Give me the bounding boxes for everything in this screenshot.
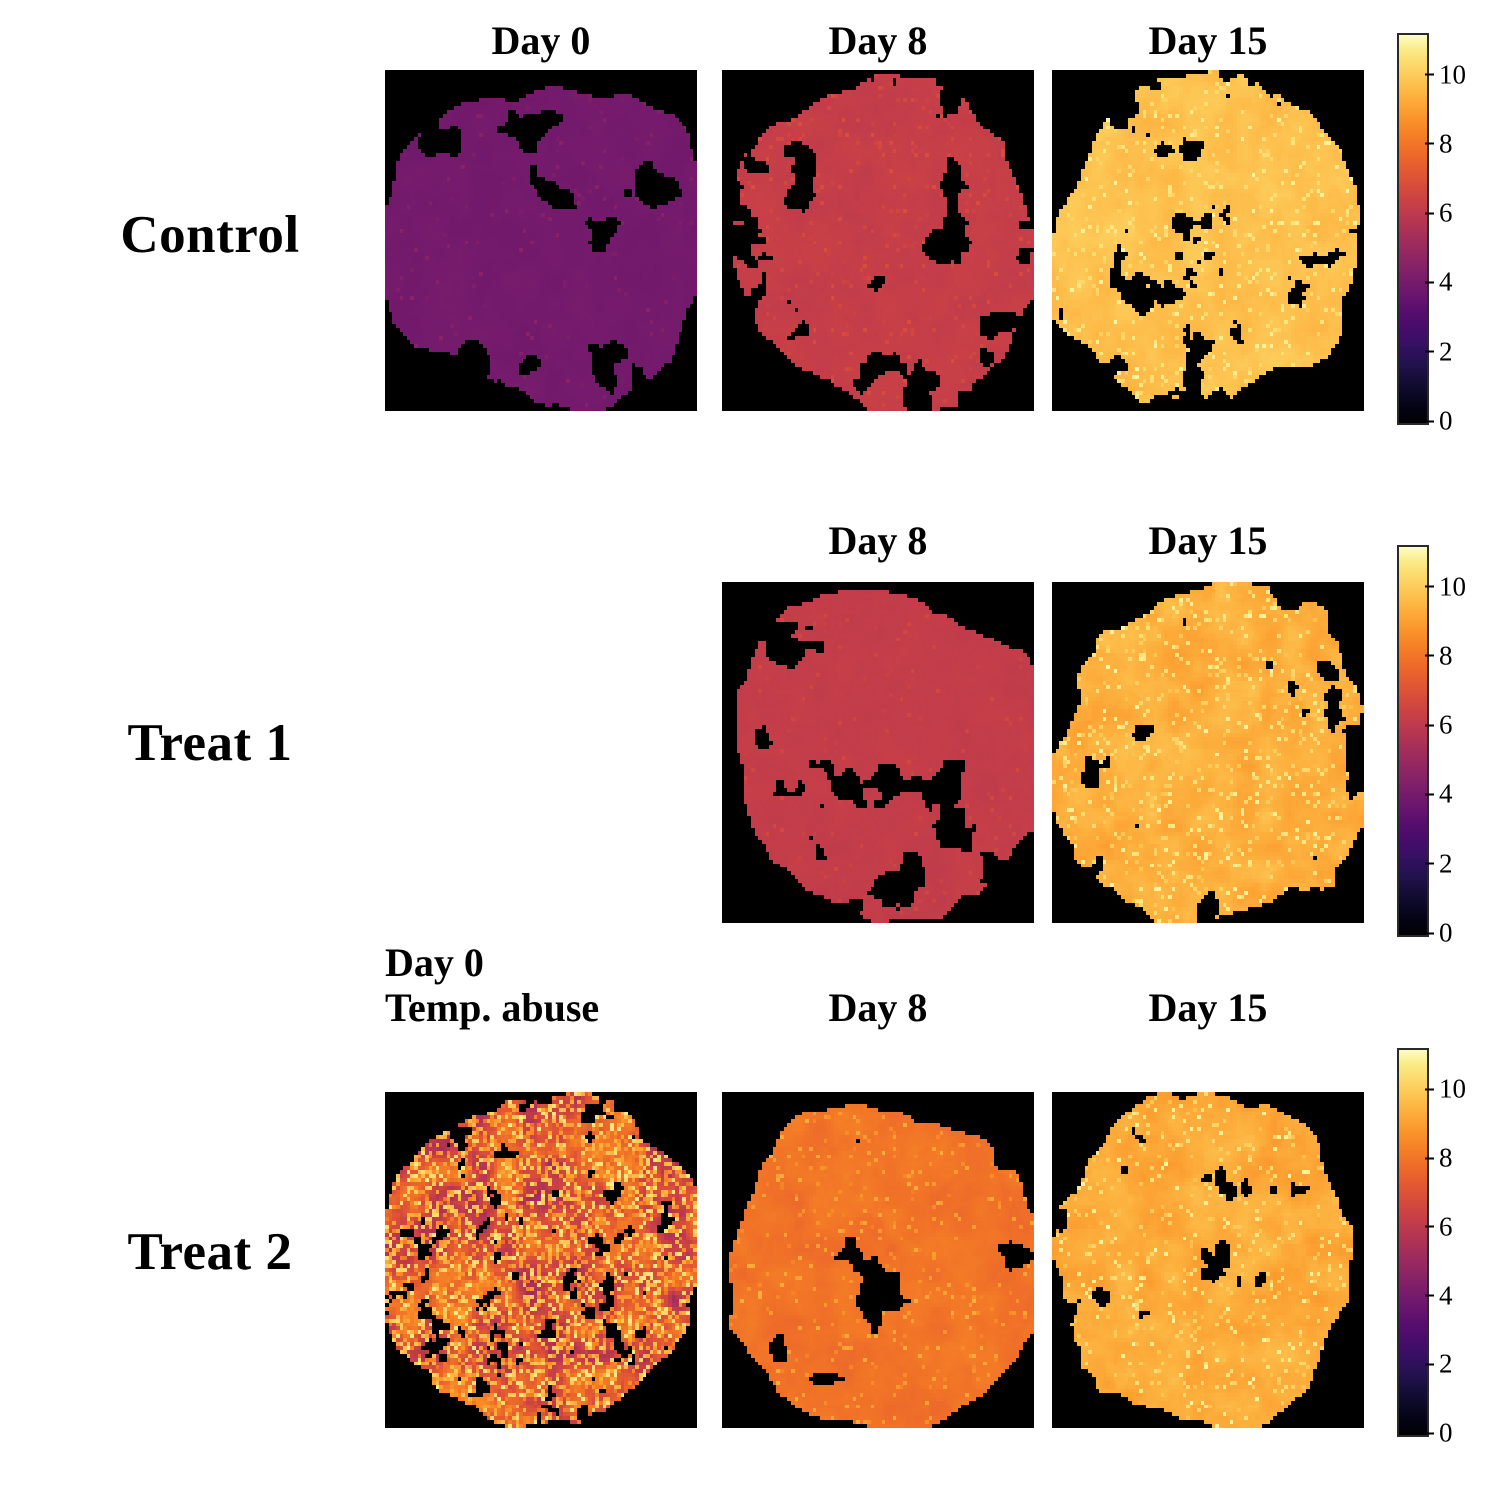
colorbar-tick: 0	[1425, 918, 1453, 949]
heatmap-image	[1052, 582, 1364, 923]
row-label-treat-2: Treat 2	[60, 1222, 360, 1282]
colorbar-tick: 4	[1425, 1280, 1453, 1311]
colorbar-tick: 4	[1425, 267, 1453, 298]
panel-title-control-day-0: Day 0	[385, 18, 697, 63]
heatmap-panel-treat-2-day-15	[1052, 1092, 1364, 1428]
tick-label: 4	[1439, 1280, 1453, 1311]
tick-label: 10	[1439, 59, 1466, 90]
colorbar-tick: 6	[1425, 710, 1453, 741]
tick-mark	[1425, 420, 1434, 422]
tick-label: 0	[1439, 406, 1453, 437]
colorbar-tick: 10	[1425, 1074, 1466, 1105]
heatmap-panel-treat-1-day-8	[722, 582, 1034, 923]
tick-mark	[1425, 1363, 1434, 1365]
tick-mark	[1425, 655, 1434, 657]
heatmap-panel-control-day-0	[385, 70, 697, 411]
tick-mark	[1425, 863, 1434, 865]
tick-label: 2	[1439, 1349, 1453, 1380]
row-label-control: Control	[60, 205, 360, 265]
heatmap-image	[385, 70, 697, 411]
tick-label: 6	[1439, 1211, 1453, 1242]
colorbar-tick: 8	[1425, 640, 1453, 671]
panel-title-treat-1-day-8: Day 8	[722, 518, 1034, 563]
colorbar-tick: 8	[1425, 128, 1453, 159]
panel-title-control-day-8: Day 8	[722, 18, 1034, 63]
heatmap-panel-control-day-8	[722, 70, 1034, 411]
colorbar-tick: 0	[1425, 406, 1453, 437]
tick-label: 8	[1439, 1143, 1453, 1174]
tick-mark	[1425, 1157, 1434, 1159]
colorbar-ticks: 0246810	[1425, 33, 1495, 421]
colorbar-tick: 0	[1425, 1418, 1453, 1449]
colorbar-treat-2: 0246810	[1397, 1048, 1425, 1433]
heatmap-image	[722, 582, 1034, 923]
panel-title-treat-2-day-8: Day 8	[722, 985, 1034, 1030]
tick-mark	[1425, 1226, 1434, 1228]
heatmap-panel-treat-1-day-15	[1052, 582, 1364, 923]
tick-label: 10	[1439, 571, 1466, 602]
colorbar-tick: 4	[1425, 779, 1453, 810]
tick-mark	[1425, 932, 1434, 934]
row-label-treat-1: Treat 1	[60, 713, 360, 773]
tick-mark	[1425, 74, 1434, 76]
tick-mark	[1425, 724, 1434, 726]
tick-label: 6	[1439, 198, 1453, 229]
tick-mark	[1425, 586, 1434, 588]
tick-label: 6	[1439, 710, 1453, 741]
heatmap-image	[1052, 1092, 1364, 1428]
tick-label: 0	[1439, 918, 1453, 949]
heatmap-panel-treat-2-day-8	[722, 1092, 1034, 1428]
colorbar-control: 0246810	[1397, 33, 1425, 421]
heatmap-figure: ControlDay 0Day 8Day 150246810Treat 1Day…	[0, 0, 1497, 1502]
tick-mark	[1425, 1432, 1434, 1434]
heatmap-image	[722, 70, 1034, 411]
tick-label: 2	[1439, 848, 1453, 879]
tick-label: 8	[1439, 640, 1453, 671]
tick-mark	[1425, 1088, 1434, 1090]
colorbar-tick: 10	[1425, 571, 1466, 602]
panel-title-control-day-15: Day 15	[1052, 18, 1364, 63]
tick-label: 2	[1439, 336, 1453, 367]
heatmap-image	[722, 1092, 1034, 1428]
tick-mark	[1425, 143, 1434, 145]
tick-label: 4	[1439, 779, 1453, 810]
colorbar-tick: 2	[1425, 848, 1453, 879]
panel-title-treat-2-day-0: Day 0 Temp. abuse	[385, 940, 697, 1030]
tick-label: 8	[1439, 128, 1453, 159]
colorbar-tick: 6	[1425, 1211, 1453, 1242]
tick-label: 0	[1439, 1418, 1453, 1449]
heatmap-panel-control-day-15	[1052, 70, 1364, 411]
colorbar-tick: 2	[1425, 1349, 1453, 1380]
tick-mark	[1425, 281, 1434, 283]
colorbar-tick: 10	[1425, 59, 1466, 90]
colorbar-tick: 2	[1425, 336, 1453, 367]
tick-mark	[1425, 212, 1434, 214]
tick-label: 10	[1439, 1074, 1466, 1105]
tick-mark	[1425, 793, 1434, 795]
colorbar-tick: 8	[1425, 1143, 1453, 1174]
colorbar-treat-1: 0246810	[1397, 545, 1425, 933]
heatmap-image	[385, 1092, 697, 1428]
tick-mark	[1425, 351, 1434, 353]
colorbar-ticks: 0246810	[1425, 545, 1495, 933]
tick-mark	[1425, 1295, 1434, 1297]
panel-title-treat-1-day-15: Day 15	[1052, 518, 1364, 563]
tick-label: 4	[1439, 267, 1453, 298]
colorbar-tick: 6	[1425, 198, 1453, 229]
colorbar-ticks: 0246810	[1425, 1048, 1495, 1433]
heatmap-panel-treat-2-day-0	[385, 1092, 697, 1428]
panel-title-treat-2-day-15: Day 15	[1052, 985, 1364, 1030]
heatmap-image	[1052, 70, 1364, 411]
